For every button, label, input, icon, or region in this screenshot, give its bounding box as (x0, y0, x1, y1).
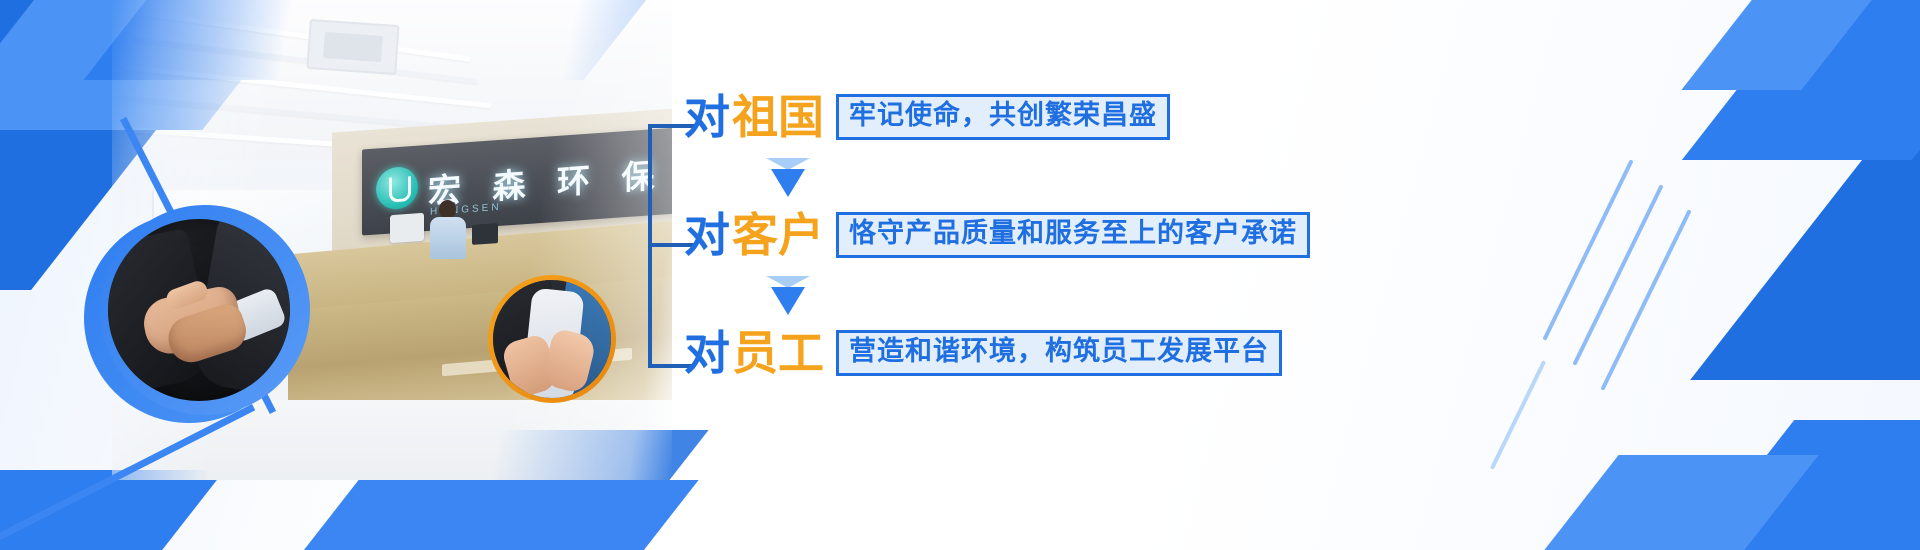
value-tagline-box: 营造和谐环境，构筑员工发展平台 (836, 330, 1282, 376)
down-arrow-icon (766, 158, 810, 198)
leaf-globe-logo-icon (376, 166, 418, 211)
arrow-bottom-half (771, 287, 805, 315)
value-subject: 客户 (732, 212, 824, 258)
applause-image (493, 280, 611, 398)
value-prefix: 对 (684, 94, 730, 140)
arrow-bottom-half (771, 169, 805, 197)
handshake-image (108, 219, 290, 401)
receptionist-body (430, 217, 466, 259)
applause-photo-inset (488, 275, 616, 403)
handshake-photo-inset (100, 205, 310, 415)
ac-vent (306, 19, 399, 75)
desk-monitor (390, 213, 424, 243)
value-heading: 对 祖国 (684, 94, 824, 140)
value-heading: 对 员工 (684, 330, 824, 376)
receptionist-figure (430, 200, 464, 258)
value-subject: 祖国 (732, 94, 824, 140)
value-row-employee: 对 员工 营造和谐环境，构筑员工发展平台 (684, 330, 1282, 376)
value-subject: 员工 (732, 330, 824, 376)
values-content: 对 祖国 牢记使命，共创繁荣昌盛 对 客户 恪守产品质量和服务至上的客户承诺 对… (648, 84, 1408, 404)
value-row-country: 对 祖国 牢记使命，共创繁荣昌盛 (684, 94, 1170, 140)
value-row-customer: 对 客户 恪守产品质量和服务至上的客户承诺 (684, 212, 1310, 258)
value-prefix: 对 (684, 330, 730, 376)
down-arrow-icon (766, 276, 810, 316)
value-heading: 对 客户 (684, 212, 824, 258)
desk-terminal (472, 223, 498, 245)
company-values-banner: 宏 森 环 保 HONGSEN (0, 0, 1920, 550)
value-tagline-box: 牢记使命，共创繁荣昌盛 (836, 94, 1170, 140)
value-tagline-box: 恪守产品质量和服务至上的客户承诺 (836, 212, 1310, 258)
value-prefix: 对 (684, 212, 730, 258)
